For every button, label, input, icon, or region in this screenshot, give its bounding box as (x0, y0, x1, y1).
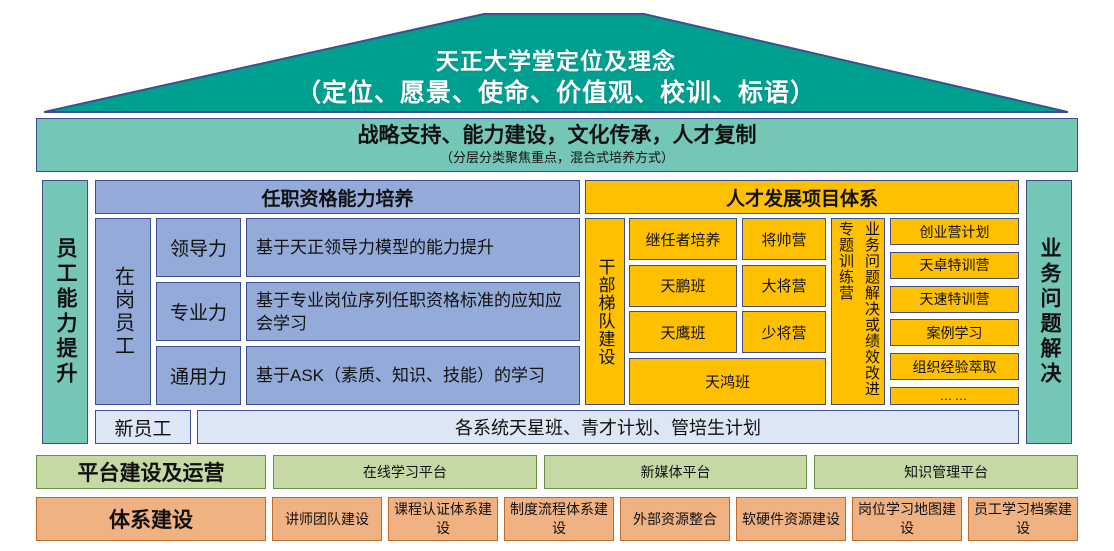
skill-tag[interactable]: 专业力 (156, 282, 241, 341)
onjob-employee-label: 在岗员工 (109, 266, 138, 358)
camp-item[interactable]: 天卓特训营 (890, 252, 1019, 279)
system-row-head: 体系建设 (36, 497, 266, 541)
skill-row-list: 领导力 基于天正领导力模型的能力提升 专业力 基于专业岗位序列任职资格标准的应知… (156, 218, 580, 405)
diagram-root: 天正大学堂定位及理念 （定位、愿景、使命、价值观、校训、标语） 战略支持、能力建… (0, 0, 1114, 551)
new-employee-row: 新员工 各系统天星班、青才计划、管培生计划 (95, 410, 1019, 444)
new-employee-description: 各系统天星班、青才计划、管培生计划 (197, 410, 1019, 444)
business-problem-camp: 业务问题解决或绩效改进专题训练营 (831, 218, 885, 405)
system-item[interactable]: 课程认证体系建设 (388, 497, 498, 541)
system-item[interactable]: 制度流程体系建设 (504, 497, 614, 541)
camp-item[interactable]: 创业营计划 (890, 218, 1019, 245)
cadre-program-grid: 继任者培养 将帅营 天鹏班 大将营 天鹰班 少将营 天鸿班 (629, 218, 826, 405)
platform-item[interactable]: 新媒体平台 (544, 455, 808, 489)
skill-row: 专业力 基于专业岗位序列任职资格标准的应知应会学习 (156, 282, 580, 341)
skill-tag[interactable]: 领导力 (156, 218, 241, 277)
sidebar-right-business-problem: 业务问题解决 (1026, 180, 1072, 444)
platform-item[interactable]: 在线学习平台 (273, 455, 537, 489)
camp-list: 创业营计划 天卓特训营 天速特训营 案例学习 组织经验萃取 …… (890, 218, 1019, 405)
camp-item[interactable]: 组织经验萃取 (890, 353, 1019, 380)
system-item[interactable]: 岗位学习地图建设 (852, 497, 962, 541)
main-body: 员工能力提升 业务问题解决 任职资格能力培养 在岗员工 领导力 基于天正领导力模… (36, 175, 1078, 449)
platform-item[interactable]: 知识管理平台 (814, 455, 1078, 489)
roof-text-group: 天正大学堂定位及理念 （定位、愿景、使命、价值观、校训、标语） (44, 12, 1068, 114)
sidebar-left-label: 员工能力提升 (50, 237, 80, 387)
roof-title-line1: 天正大学堂定位及理念 (436, 46, 676, 76)
system-row: 体系建设 讲师团队建设 课程认证体系建设 制度流程体系建设 外部资源整合 软硬件… (36, 497, 1078, 541)
talent-development-panel-body: 干部梯队建设 继任者培养 将帅营 天鹏班 大将营 天鹰班 少将营 (585, 218, 1019, 405)
banner-line1: 战略支持、能力建设，文化传承，人才复制 (358, 123, 757, 149)
cadre-program-row: 天鹏班 大将营 (629, 265, 826, 307)
cadre-program-item[interactable]: 少将营 (742, 311, 826, 353)
qualification-panel: 任职资格能力培养 在岗员工 领导力 基于天正领导力模型的能力提升 专业力 基于专… (95, 180, 580, 405)
cadre-program-item[interactable]: 将帅营 (742, 218, 826, 260)
cadre-program-row: 天鹰班 少将营 (629, 311, 826, 353)
system-item[interactable]: 讲师团队建设 (272, 497, 382, 541)
skill-description: 基于专业岗位序列任职资格标准的应知应会学习 (246, 282, 580, 341)
camp-item-more[interactable]: …… (890, 387, 1019, 405)
business-problem-camp-label: 业务问题解决或绩效改进专题训练营 (832, 221, 884, 402)
skill-row: 领导力 基于天正领导力模型的能力提升 (156, 218, 580, 277)
cadre-program-item[interactable]: 天鹰班 (629, 311, 737, 353)
banner-line2: （分层分类聚焦重点，混合式培养方式） (440, 149, 674, 167)
skill-description: 基于ASK（素质、知识、技能）的学习 (246, 346, 580, 405)
camp-item[interactable]: 案例学习 (890, 319, 1019, 346)
cadre-echelon-label: 干部梯队建设 (593, 258, 618, 366)
platform-row: 平台建设及运营 在线学习平台 新媒体平台 知识管理平台 (36, 455, 1078, 489)
cadre-program-item[interactable]: 大将营 (742, 265, 826, 307)
skill-tag[interactable]: 通用力 (156, 346, 241, 405)
system-item[interactable]: 软硬件资源建设 (736, 497, 846, 541)
talent-development-panel-title: 人才发展项目体系 (585, 180, 1019, 214)
roof-title-line2: （定位、愿景、使命、价值观、校训、标语） (296, 76, 816, 110)
sidebar-right-label: 业务问题解决 (1034, 237, 1064, 387)
cadre-program-item[interactable]: 继任者培养 (629, 218, 737, 260)
cadre-program-row: 继任者培养 将帅营 (629, 218, 826, 260)
cadre-echelon-group: 干部梯队建设 (585, 218, 625, 405)
strategy-banner: 战略支持、能力建设，文化传承，人才复制 （分层分类聚焦重点，混合式培养方式） (36, 118, 1078, 172)
qualification-panel-body: 在岗员工 领导力 基于天正领导力模型的能力提升 专业力 基于专业岗位序列任职资格… (95, 218, 580, 405)
roof-shape: 天正大学堂定位及理念 （定位、愿景、使命、价值观、校训、标语） (44, 12, 1068, 114)
system-item[interactable]: 员工学习档案建设 (968, 497, 1078, 541)
skill-description: 基于天正领导力模型的能力提升 (246, 218, 580, 277)
onjob-employee-group: 在岗员工 (95, 218, 151, 405)
cadre-program-item-full[interactable]: 天鸿班 (629, 358, 826, 405)
camp-item[interactable]: 天速特训营 (890, 286, 1019, 313)
talent-development-panel: 人才发展项目体系 干部梯队建设 继任者培养 将帅营 天鹏班 大将营 天鹰班 (585, 180, 1019, 405)
skill-row: 通用力 基于ASK（素质、知识、技能）的学习 (156, 346, 580, 405)
system-item[interactable]: 外部资源整合 (620, 497, 730, 541)
new-employee-tag[interactable]: 新员工 (95, 410, 191, 444)
platform-row-head: 平台建设及运营 (36, 455, 266, 489)
cadre-program-item[interactable]: 天鹏班 (629, 265, 737, 307)
qualification-panel-title: 任职资格能力培养 (95, 180, 580, 214)
sidebar-left-employee-capability: 员工能力提升 (42, 180, 88, 444)
